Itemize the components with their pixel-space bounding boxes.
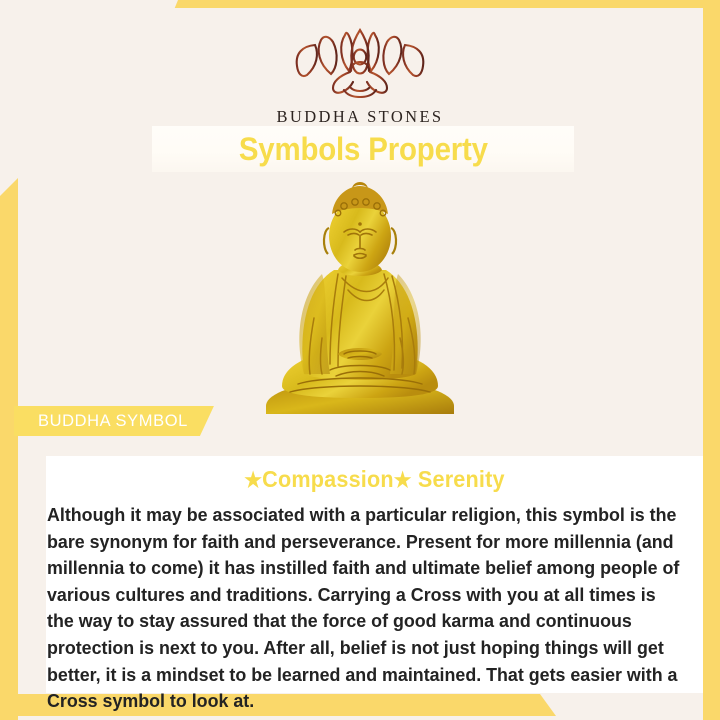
attribute-serenity: Serenity <box>418 466 505 492</box>
star-icon-left: ★ <box>244 469 262 492</box>
page-title: Symbols Property <box>238 133 487 165</box>
attributes-heading: ★Compassion★ Serenity <box>66 466 684 493</box>
star-icon-right: ★ <box>394 469 412 492</box>
buddha-symbol-tag-label: BUDDHA SYMBOL <box>38 412 188 431</box>
description-panel: ★Compassion★ Serenity Although it may be… <box>46 456 703 693</box>
buddha-statue-image <box>242 178 478 418</box>
poster-canvas: BUDDHA STONES Symbols Property <box>0 0 720 720</box>
buddha-symbol-tag: BUDDHA SYMBOL <box>14 406 214 436</box>
description-paragraph: Although it may be associated with a par… <box>47 502 681 715</box>
brand-name: BUDDHA STONES <box>276 107 443 127</box>
attribute-compassion: Compassion <box>262 466 394 492</box>
title-banner: Symbols Property <box>152 126 574 172</box>
lotus-meditation-figure-icon <box>289 26 431 98</box>
brand-logo: BUDDHA STONES <box>0 26 720 127</box>
golden-buddha-statue-illustration <box>242 178 478 418</box>
